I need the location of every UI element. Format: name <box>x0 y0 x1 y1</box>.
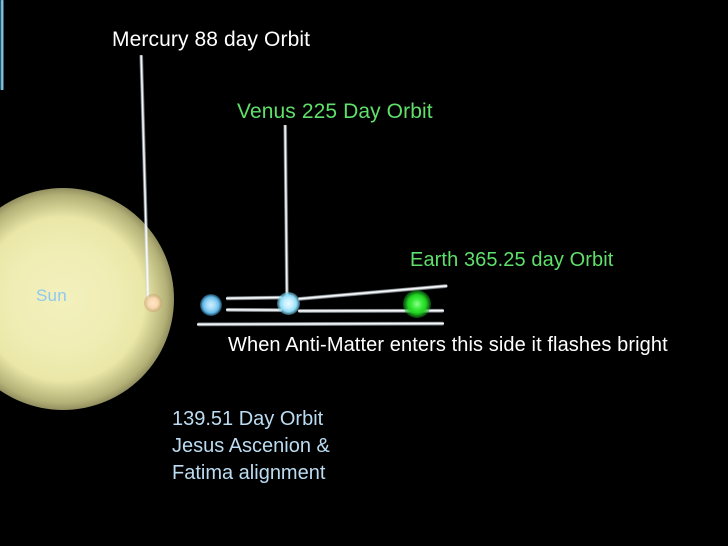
diagram-canvas: Sun Mercury 88 day Orbit Venus 225 Day O… <box>0 0 728 546</box>
orbit-note-line-3: Fatima alignment <box>172 460 330 487</box>
venus-leader-line <box>283 125 289 301</box>
orbit-note-line-2: Jesus Ascenion & <box>172 433 330 460</box>
mercury-planet-dot <box>144 294 162 312</box>
venus-planet-dot <box>277 292 300 315</box>
alignment-ray-long-lower <box>197 322 444 327</box>
antimatter-note-label: When Anti-Matter enters this side it fla… <box>228 334 668 357</box>
sun-label: Sun <box>36 286 67 306</box>
orbit-note-block: 139.51 Day Orbit Jesus Ascenion & Fatima… <box>172 406 330 487</box>
earth-orbit-label: Earth 365.25 day Orbit <box>410 249 613 272</box>
orbit-note-line-1: 139.51 Day Orbit <box>172 406 330 433</box>
venus-orbit-label: Venus 225 Day Orbit <box>237 100 433 124</box>
inner-blue-planet-dot <box>200 294 222 316</box>
alignment-ray-upper-left <box>226 296 282 301</box>
earth-planet-dot <box>403 290 431 318</box>
mercury-orbit-label: Mercury 88 day Orbit <box>112 28 310 52</box>
inner-blue-leader-line <box>0 0 4 90</box>
alignment-ray-lower-left <box>226 308 282 312</box>
